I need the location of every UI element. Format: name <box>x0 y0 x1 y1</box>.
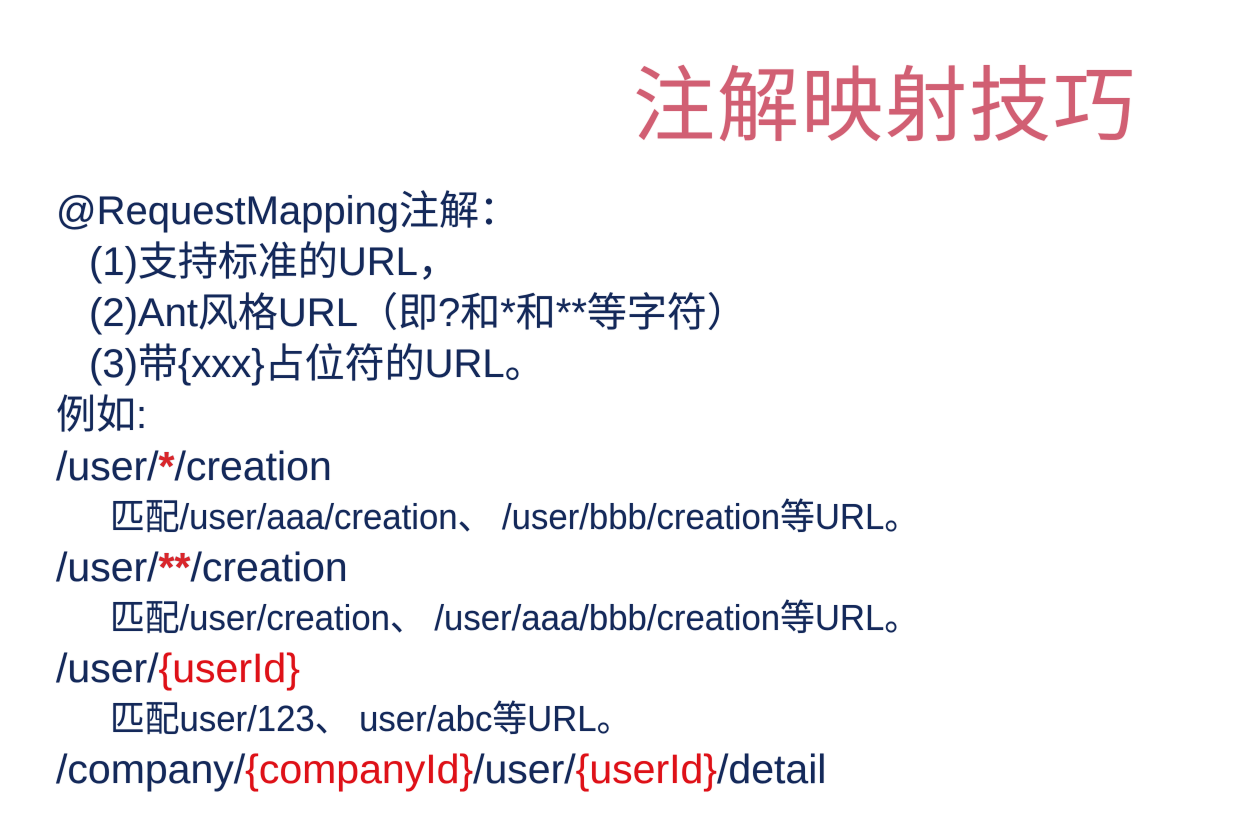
pattern-wildcard-token: ** <box>159 544 191 590</box>
slide-canvas: 注解映射技巧 @RequestMapping注解： (1)支持标准的URL， (… <box>0 0 1255 823</box>
example-label: 例如: <box>56 390 1235 441</box>
feature-item-1: (1)支持标准的URL， <box>56 237 1235 288</box>
pattern-suffix: /creation <box>175 443 332 489</box>
pattern-prefix: /user/ <box>56 645 159 691</box>
pattern-wildcard-token: * <box>159 443 175 489</box>
example-match-2: 匹配/user/creation、 /user/aaa/bbb/creation… <box>56 593 1194 643</box>
slide-title: 注解映射技巧 <box>633 62 1137 152</box>
feature-item-2: (2)Ant风格URL（即?和*和**等字符） <box>56 288 1235 339</box>
final-segment-user: /user/ <box>473 746 576 792</box>
pattern-suffix: /creation <box>190 544 347 590</box>
final-pattern: /company/{companyId}/user/{userId}/detai… <box>56 744 1235 795</box>
feature-item-3: (3)带{xxx}占位符的URL。 <box>56 339 1235 390</box>
final-placeholder-userid: {userId} <box>576 746 717 792</box>
final-segment-company: /company/ <box>56 746 245 792</box>
pattern-prefix: /user/ <box>56 443 159 489</box>
final-placeholder-companyid: {companyId} <box>245 746 473 792</box>
example-match-1: 匹配/user/aaa/creation、 /user/bbb/creation… <box>56 492 1194 542</box>
slide-body: @RequestMapping注解： (1)支持标准的URL， (2)Ant风格… <box>56 186 1235 795</box>
example-pattern-2: /user/**/creation <box>56 542 1235 593</box>
example-pattern-1: /user/*/creation <box>56 441 1235 492</box>
example-match-3: 匹配user/123、 user/abc等URL。 <box>56 694 1194 744</box>
annotation-heading: @RequestMapping注解： <box>56 186 1235 237</box>
pattern-prefix: /user/ <box>56 544 159 590</box>
example-pattern-3: /user/{userId} <box>56 643 1235 694</box>
pattern-placeholder-token: {userId} <box>159 645 300 691</box>
final-segment-detail: /detail <box>717 746 826 792</box>
